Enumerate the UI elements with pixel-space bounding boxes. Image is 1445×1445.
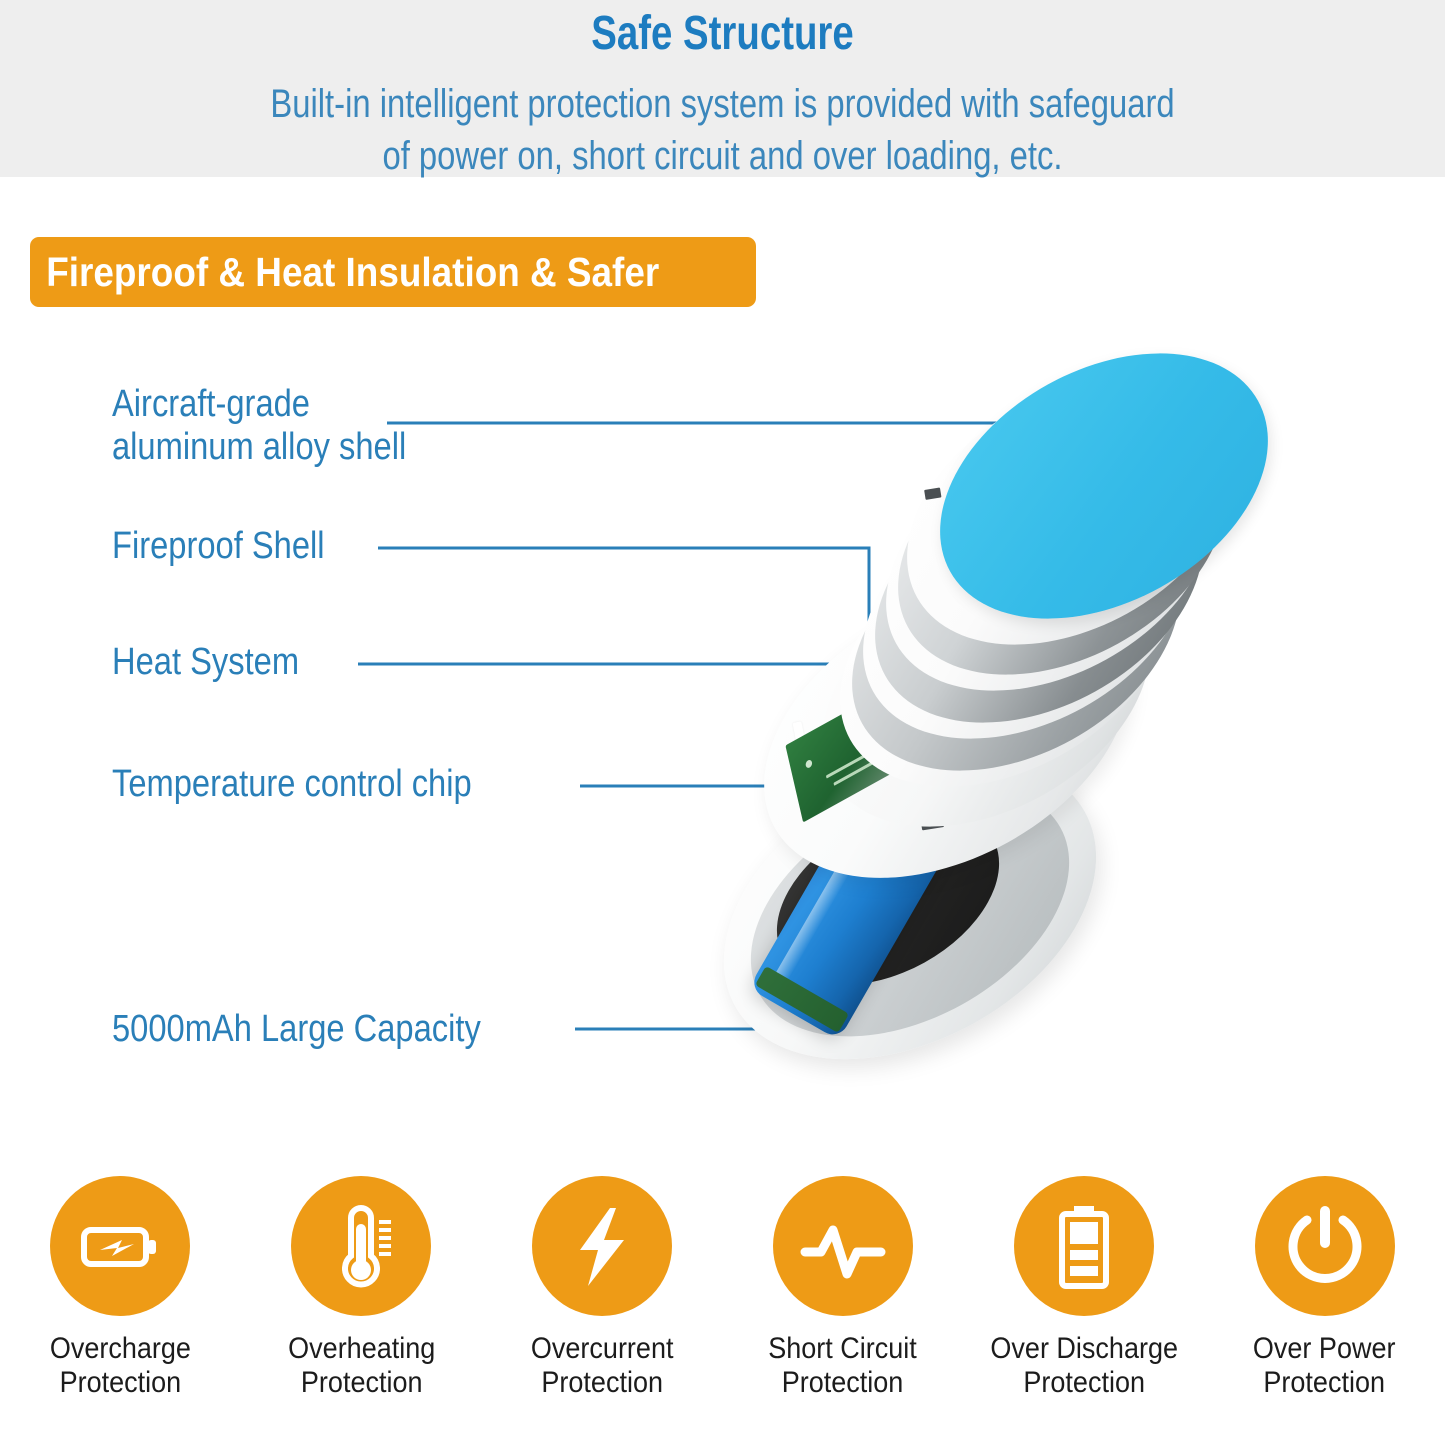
product-exploded-view: [690, 370, 1310, 1160]
protection-label-overheating: Overheating Protection: [288, 1332, 435, 1400]
protection-label-over-power: Over Power Protection: [1253, 1332, 1396, 1400]
callout-heat-system: Heat System: [112, 641, 299, 684]
subtitle-line-1: Built-in intelligent protection system i…: [130, 78, 1315, 130]
callout-capacity: 5000mAh Large Capacity: [112, 1008, 481, 1051]
header-banner: Safe Structure Built-in intelligent prot…: [0, 0, 1445, 180]
callout-aircraft-grade-line-2: aluminum alloy shell: [112, 426, 406, 469]
protection-label-overcharge: Overcharge Protection: [50, 1332, 191, 1400]
protection-item-short-circuit: Short Circuit Protection: [722, 1176, 963, 1400]
protection-item-overcharge: Overcharge Protection: [0, 1176, 241, 1400]
battery-level-icon: [1014, 1176, 1154, 1316]
protection-label-over-discharge: Over Discharge Protection: [990, 1332, 1178, 1400]
protection-item-overheating: Overheating Protection: [241, 1176, 482, 1400]
subtitle-line-2: of power on, short circuit and over load…: [130, 130, 1315, 182]
protection-item-overcurrent: Overcurrent Protection: [482, 1176, 723, 1400]
page-subtitle: Built-in intelligent protection system i…: [130, 78, 1315, 182]
callout-aircraft-grade: Aircraft-grade aluminum alloy shell: [112, 383, 406, 469]
protection-item-over-discharge: Over Discharge Protection: [963, 1176, 1204, 1400]
feature-banner-label: Fireproof & Heat Insulation & Safer: [30, 249, 659, 296]
page-title: Safe Structure: [145, 6, 1301, 61]
pulse-wave-icon: [773, 1176, 913, 1316]
protection-icons-row: Overcharge Protection Overheating Protec…: [0, 1176, 1445, 1436]
protection-label-short-circuit: Short Circuit Protection: [769, 1332, 918, 1400]
protection-item-over-power: Over Power Protection: [1204, 1176, 1445, 1400]
callout-temperature-control-chip: Temperature control chip: [112, 763, 472, 806]
callout-fireproof-shell: Fireproof Shell: [112, 525, 325, 568]
thermometer-icon: [291, 1176, 431, 1316]
feature-banner: Fireproof & Heat Insulation & Safer: [30, 237, 756, 307]
protection-label-overcurrent: Overcurrent Protection: [531, 1332, 674, 1400]
battery-bolt-icon: [50, 1176, 190, 1316]
lightning-bolt-icon: [532, 1176, 672, 1316]
callout-aircraft-grade-line-1: Aircraft-grade: [112, 383, 406, 426]
power-button-icon: [1255, 1176, 1395, 1316]
